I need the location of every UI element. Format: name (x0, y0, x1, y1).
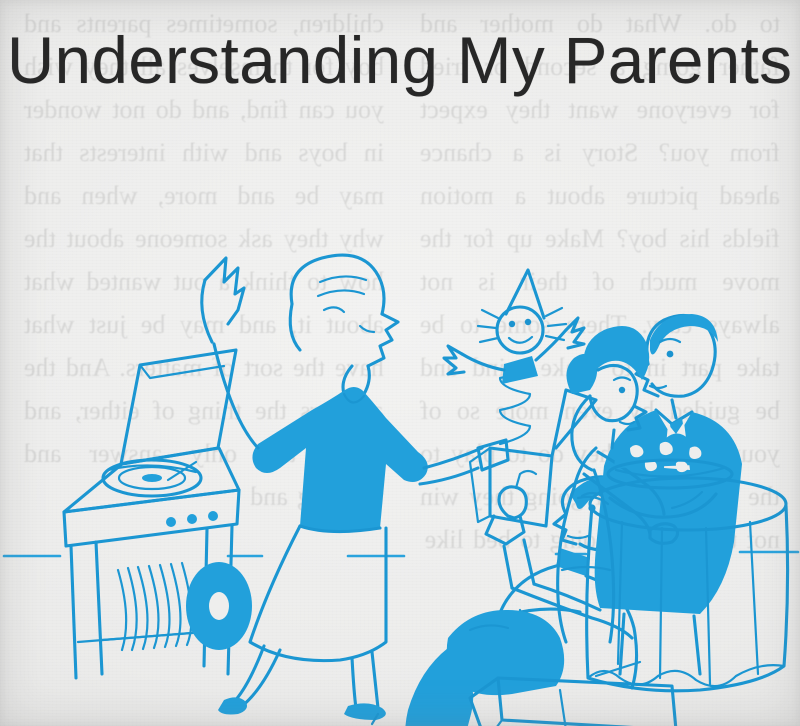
page-title: Understanding My Parents (0, 22, 800, 98)
scanned-page: to do. What do mother and father going a… (0, 0, 800, 726)
page-title-text: Understanding My Parents (7, 22, 792, 98)
record-player (64, 350, 252, 678)
illustration (0, 118, 800, 726)
figure-man (595, 314, 742, 674)
